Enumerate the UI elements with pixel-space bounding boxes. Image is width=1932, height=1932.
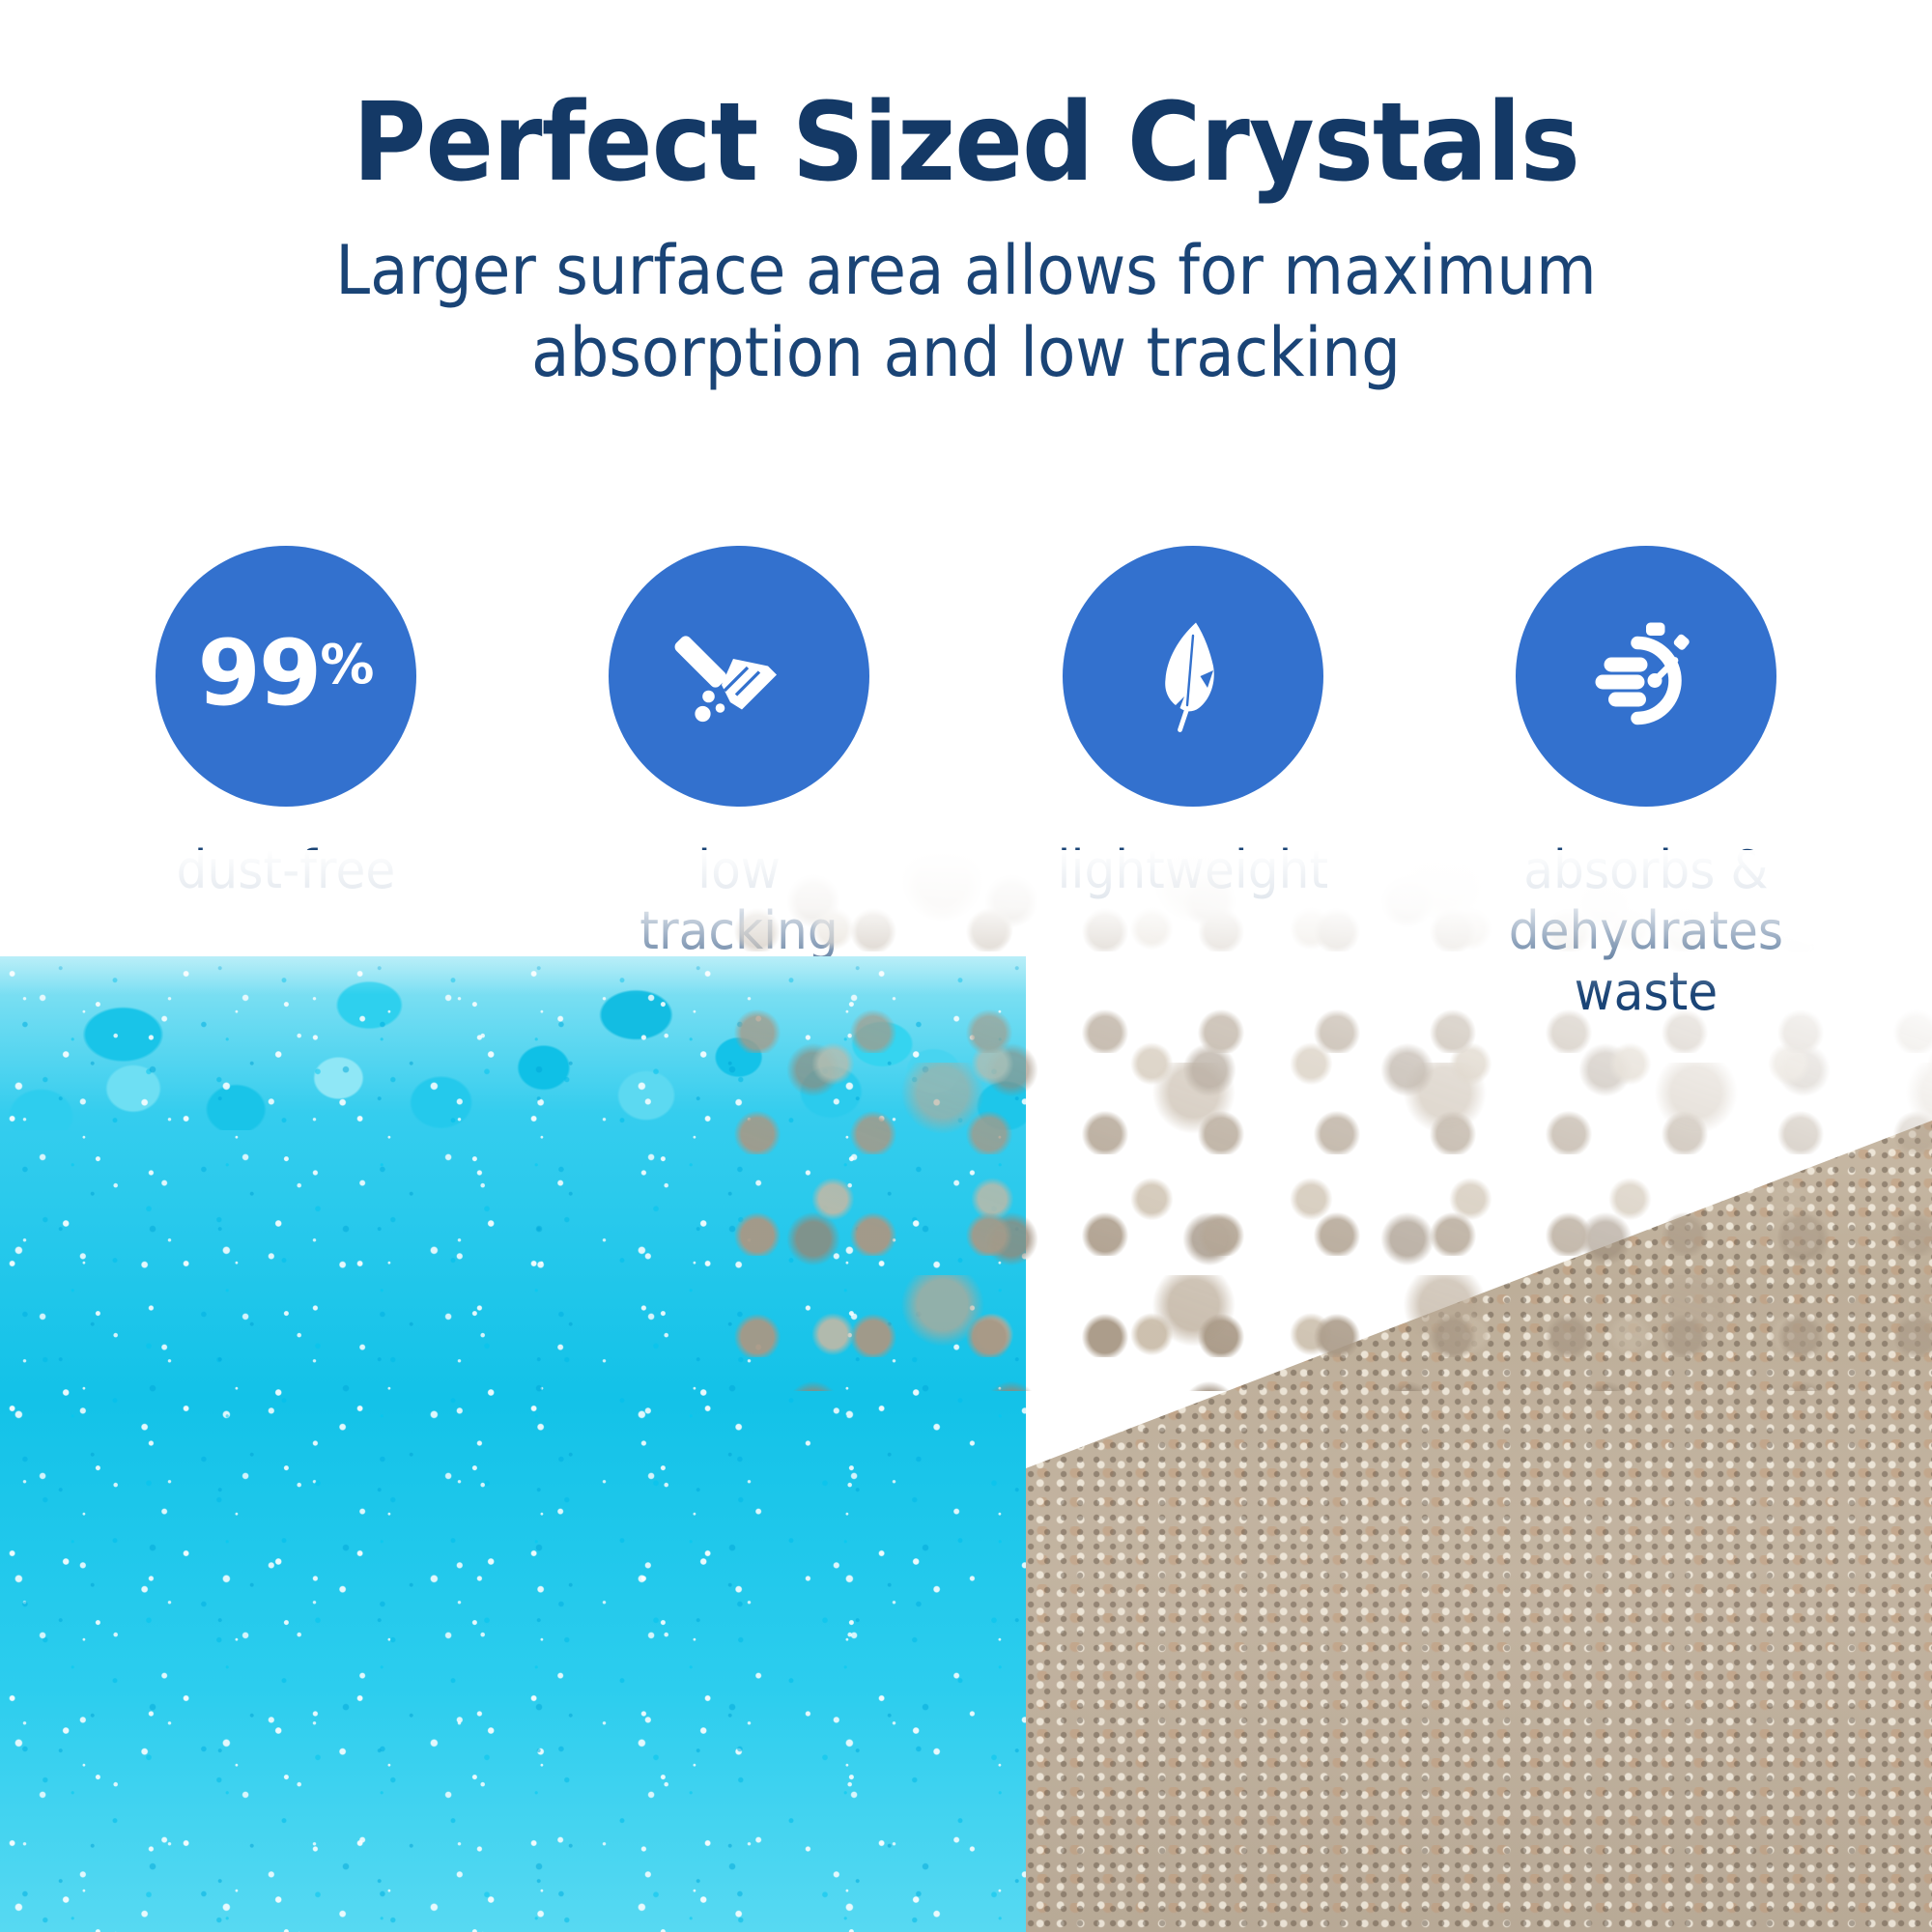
percent-value-text: 99% xyxy=(198,629,375,720)
page-subtitle-line-2: absorption and low tracking xyxy=(246,312,1686,394)
percent-number: 99 xyxy=(198,621,321,726)
page-subtitle: Larger surface area allows for maximum a… xyxy=(246,230,1686,395)
feature-item-dust-free: 99% dust-free xyxy=(145,546,427,900)
infographic-page: Perfect Sized Crystals Larger surface ar… xyxy=(0,0,1932,1932)
header-block: Perfect Sized Crystals Larger surface ar… xyxy=(0,89,1932,395)
absorbs-dehydrates-badge xyxy=(1516,546,1776,807)
percent-sign: % xyxy=(320,634,374,696)
fast-stopwatch-icon xyxy=(1574,604,1719,749)
comparison-photo xyxy=(0,850,1932,1932)
percent-99-badge: 99% xyxy=(156,546,416,807)
broom-sweep-icon xyxy=(667,604,811,749)
page-subtitle-line-1: Larger surface area allows for maximum xyxy=(246,230,1686,312)
feature-item-lightweight: lightweight xyxy=(1052,546,1334,900)
lightweight-badge xyxy=(1063,546,1323,807)
low-tracking-badge xyxy=(609,546,869,807)
page-title: Perfect Sized Crystals xyxy=(68,89,1864,197)
clay-scatter-particles xyxy=(734,850,1932,1391)
feather-icon xyxy=(1121,604,1265,749)
